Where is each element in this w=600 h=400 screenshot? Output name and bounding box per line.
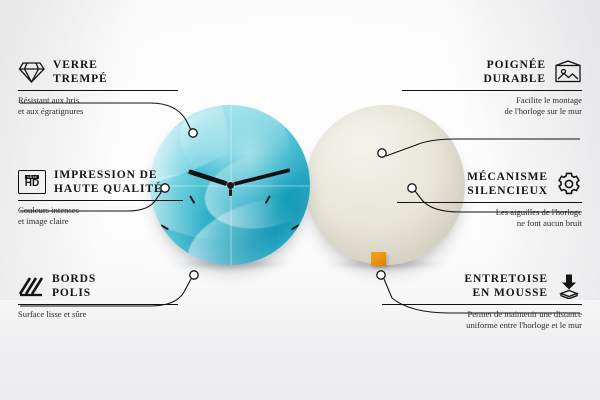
feature-title-line1: POIGNÉE xyxy=(487,58,546,72)
feature-title-line2: TREMPÉ xyxy=(53,72,108,86)
feature-desc-line1: Couleurs intenses xyxy=(18,205,183,216)
feature-title-line2: POLIS xyxy=(52,286,96,300)
feature-header: BORDS POLIS xyxy=(18,272,178,300)
feature-desc-line1: Permet de maintenir une distance xyxy=(382,309,582,320)
feature-desc-line2: uniforme entre l'horloge et le mur xyxy=(382,320,582,331)
feature-verre-trempe[interactable]: VERRE TREMPÉ Résistant aux bris et aux é… xyxy=(18,58,178,117)
feature-title-line1: MÉCANISME xyxy=(467,170,548,184)
feature-header: VERRE TREMPÉ xyxy=(18,58,178,86)
gear-icon xyxy=(556,171,582,197)
feature-desc-line1: Les aiguilles de l'horloge xyxy=(397,207,582,218)
picture-frame-icon xyxy=(554,60,582,84)
hands-center-cap xyxy=(227,182,234,189)
feature-title-line1: ENTRETOISE xyxy=(464,272,548,286)
feature-desc-line1: Surface lisse et sûre xyxy=(18,309,178,320)
polished-edges-icon xyxy=(18,274,44,298)
feature-title-line2: DURABLE xyxy=(483,72,546,86)
foam-spacer-down-arrow-icon xyxy=(556,273,582,299)
product-feature-infographic: VERRE TREMPÉ Résistant aux bris et aux é… xyxy=(0,0,600,400)
badge-main-label: HD xyxy=(25,179,39,189)
divider xyxy=(18,90,178,91)
ultra-hd-badge-icon: ultra HD xyxy=(18,170,46,194)
divider xyxy=(18,200,183,201)
foam-spacer-pad xyxy=(371,252,386,266)
feature-bords-polis[interactable]: BORDS POLIS Surface lisse et sûre xyxy=(18,272,178,320)
feature-desc-line2: ne font aucun bruit xyxy=(397,218,582,229)
diamond-icon xyxy=(18,60,45,84)
feature-entretoise-en-mousse[interactable]: ENTRETOISE EN MOUSSE Permet de maintenir… xyxy=(382,272,582,331)
feature-desc-line2: et image claire xyxy=(18,216,183,227)
feature-title-line1: BORDS xyxy=(52,272,96,286)
feature-poignee-durable[interactable]: POIGNÉE DURABLE Facilite le montage de l… xyxy=(402,58,582,117)
feature-header: MÉCANISME SILENCIEUX xyxy=(397,170,582,198)
feature-title-line2: HAUTE QUALITÉ xyxy=(54,182,163,196)
divider xyxy=(402,90,582,91)
feature-desc-line2: de l'horloge sur le mur xyxy=(402,106,582,117)
feature-header: POIGNÉE DURABLE xyxy=(402,58,582,86)
feature-title-line2: EN MOUSSE xyxy=(472,286,548,300)
divider xyxy=(382,304,582,305)
feature-title-line1: VERRE xyxy=(53,58,108,72)
divider xyxy=(397,202,582,203)
feature-header: ultra HD IMPRESSION DE HAUTE QUALITÉ xyxy=(18,168,183,196)
feature-title-line1: IMPRESSION DE xyxy=(54,168,163,182)
feature-header: ENTRETOISE EN MOUSSE xyxy=(382,272,582,300)
feature-desc-line1: Résistant aux bris xyxy=(18,95,178,106)
feature-desc-line1: Facilite le montage xyxy=(402,95,582,106)
divider xyxy=(18,304,178,305)
feature-impression-haute-qualite[interactable]: ultra HD IMPRESSION DE HAUTE QUALITÉ Cou… xyxy=(18,168,183,227)
feature-mecanisme-silencieux[interactable]: MÉCANISME SILENCIEUX Les aiguilles de l'… xyxy=(397,170,582,229)
feature-desc-line2: et aux égratignures xyxy=(18,106,178,117)
feature-title-line2: SILENCIEUX xyxy=(467,184,548,198)
